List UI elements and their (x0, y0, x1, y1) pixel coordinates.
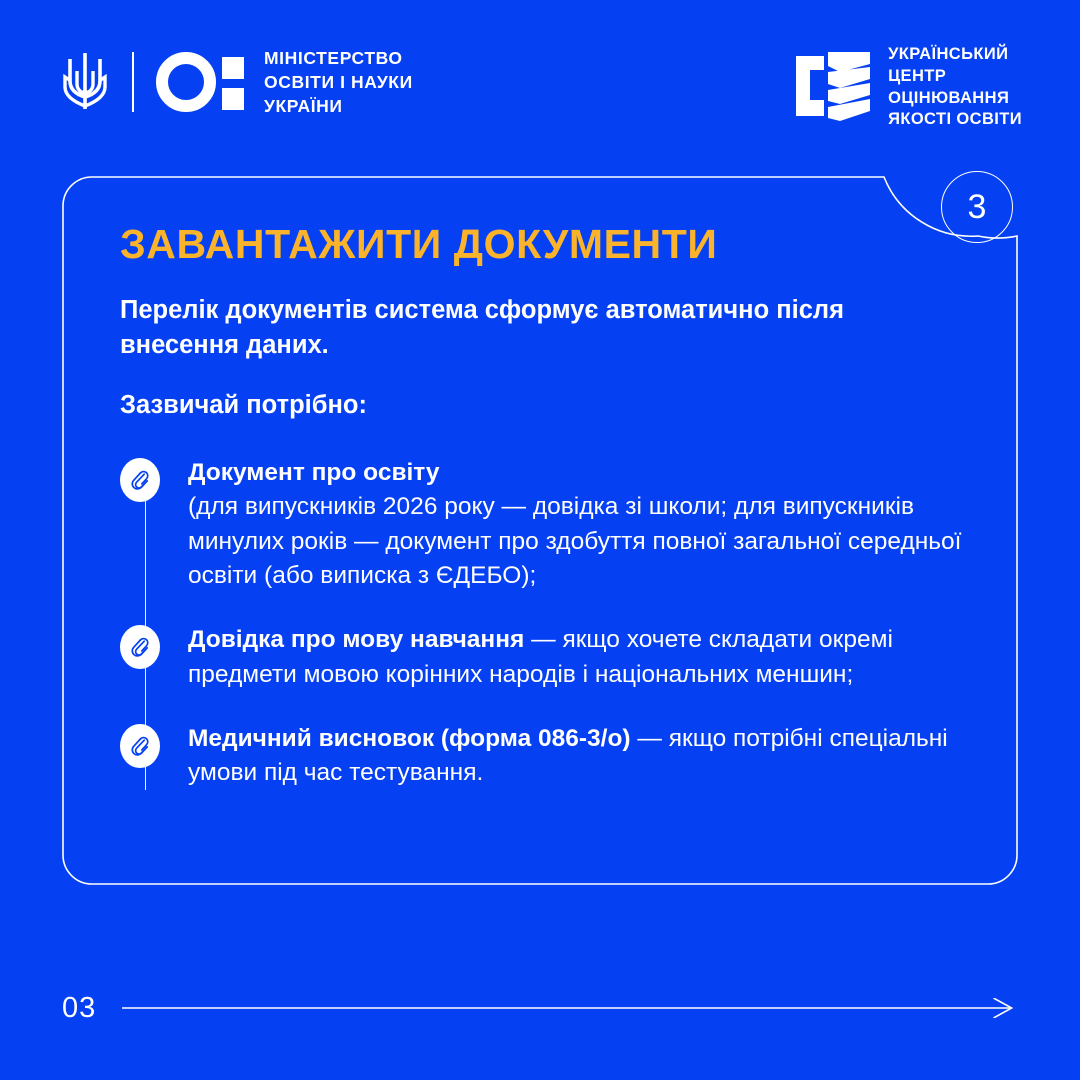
card-lead-text: Перелік документів система сформує автом… (120, 293, 920, 363)
ministry-logo-line-2: ОСВІТИ І НАУКИ (264, 70, 413, 94)
ukraine-trident-icon (62, 51, 108, 113)
uceqa-logo-text: УКРАЇНСЬКИЙ ЦЕНТР ОЦІНЮВАННЯ ЯКОСТІ ОСВІ… (888, 44, 1022, 131)
list-item-title: Довідка про мову навчання (188, 626, 524, 653)
list-item-title: Документ про освіту (188, 459, 440, 486)
list-item-text: Документ про освіту (для випускників 202… (188, 456, 1000, 593)
list-item: Довідка про мову навчання — якщо хочете … (120, 623, 1000, 692)
documents-list: Документ про освіту (для випускників 202… (120, 456, 1000, 790)
card-content: ЗАВАНТАЖИТИ ДОКУМЕНТИ Перелік документів… (120, 222, 1000, 790)
mon-circle-squares-icon (156, 51, 244, 113)
list-item-title: Медичний висновок (форма 086-3/о) (188, 725, 631, 752)
list-item-text: Довідка про мову навчання — якщо хочете … (188, 623, 1000, 692)
uceqa-logo-line-3: ОЦІНЮВАННЯ (888, 88, 1022, 110)
paperclip-icon (120, 724, 160, 768)
logo-divider (132, 52, 134, 112)
ministry-logo-line-1: МІНІСТЕРСТВО (264, 46, 413, 70)
uceqa-logo-line-1: УКРАЇНСЬКИЙ (888, 44, 1022, 66)
arrow-right-icon (122, 998, 1018, 1018)
step-card: 3 ЗАВАНТАЖИТИ ДОКУМЕНТИ Перелік документ… (62, 176, 1018, 885)
page-number: 03 (62, 994, 96, 1023)
card-title: ЗАВАНТАЖИТИ ДОКУМЕНТИ (120, 222, 1000, 267)
page-header: МІНІСТЕРСТВО ОСВІТИ І НАУКИ УКРАЇНИ УКРА… (0, 0, 1080, 160)
list-item-text: Медичний висновок (форма 086-3/о) — якщо… (188, 722, 1000, 791)
list-item-detail: (для випускників 2026 року — довідка зі … (188, 493, 961, 589)
list-item: Медичний висновок (форма 086-3/о) — якщо… (120, 722, 1000, 791)
ministry-of-education-logo: МІНІСТЕРСТВО ОСВІТИ І НАУКИ УКРАЇНИ (62, 46, 413, 118)
paperclip-icon (120, 625, 160, 669)
uceqa-logo-line-2: ЦЕНТР (888, 66, 1022, 88)
ministry-logo-text: МІНІСТЕРСТВО ОСВІТИ І НАУКИ УКРАЇНИ (264, 46, 413, 118)
uceqa-logo: УКРАЇНСЬКИЙ ЦЕНТР ОЦІНЮВАННЯ ЯКОСТІ ОСВІ… (794, 44, 1022, 131)
uceqa-logo-line-4: ЯКОСТІ ОСВІТИ (888, 109, 1022, 131)
usually-required-label: Зазвичай потрібно: (120, 389, 1000, 422)
list-item: Документ про освіту (для випускників 202… (120, 456, 1000, 593)
open-book-chevrons-icon (794, 50, 872, 126)
page-footer: 03 (62, 988, 1018, 1028)
ministry-logo-line-3: УКРАЇНИ (264, 94, 413, 118)
paperclip-icon (120, 458, 160, 502)
